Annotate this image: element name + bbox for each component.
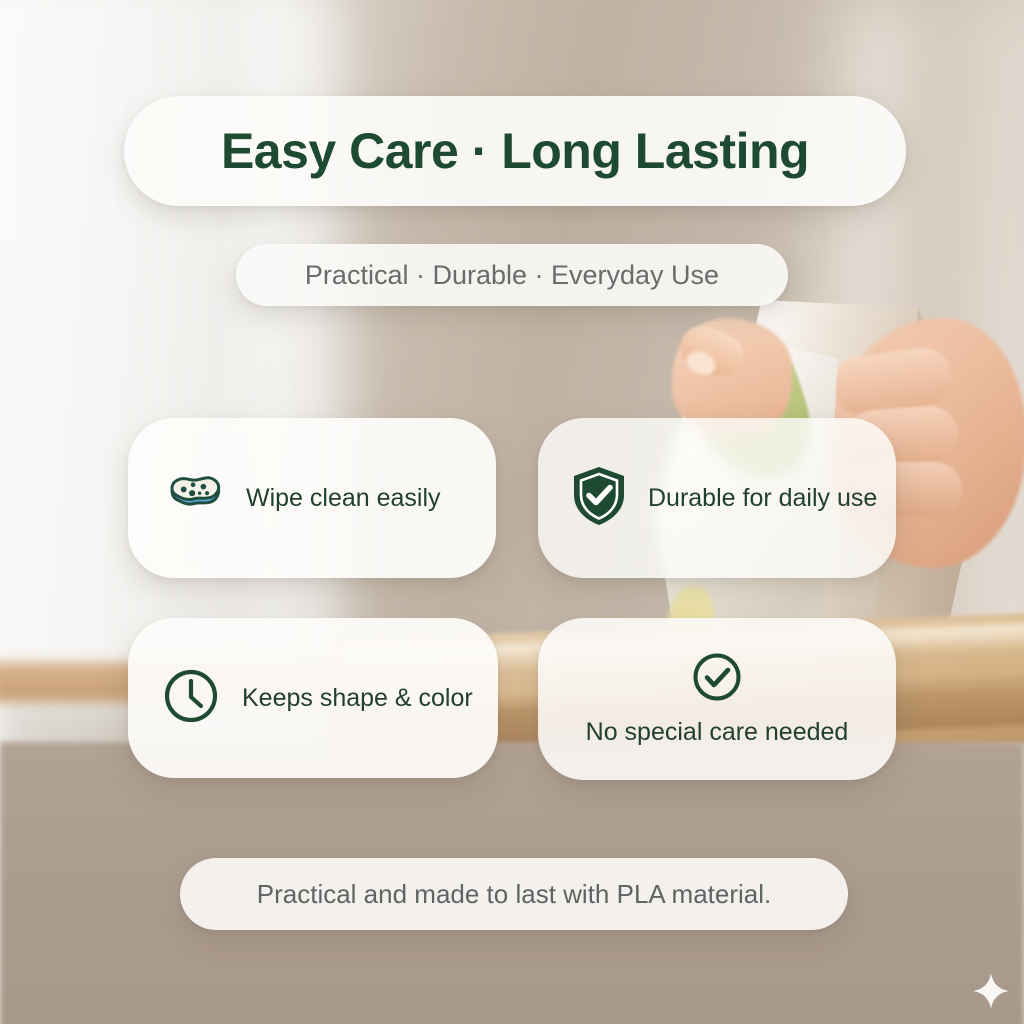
sparkle-icon xyxy=(972,972,1010,1010)
subtitle-pill: Practical · Durable · Everyday Use xyxy=(236,244,788,306)
sponge-icon xyxy=(164,466,224,531)
circle-check-icon xyxy=(691,651,743,708)
shield-check-icon xyxy=(570,465,628,532)
feature-card-keeps-shape[interactable]: Keeps shape & color xyxy=(128,618,498,778)
feature-card-durable[interactable]: Durable for daily use xyxy=(538,418,896,578)
page-subtitle: Practical · Durable · Everyday Use xyxy=(305,260,719,291)
feature-label: No special care needed xyxy=(586,718,849,747)
infographic-canvas: Easy Care · Long Lasting Practical · Dur… xyxy=(0,0,1024,1024)
page-title: Easy Care · Long Lasting xyxy=(221,122,809,180)
feature-card-wipe-clean[interactable]: Wipe clean easily xyxy=(128,418,496,578)
clock-icon xyxy=(162,667,220,730)
feature-card-no-special-care[interactable]: No special care needed xyxy=(538,618,896,780)
feature-label: Keeps shape & color xyxy=(242,684,473,713)
footer-pill: Practical and made to last with PLA mate… xyxy=(180,858,848,930)
title-pill: Easy Care · Long Lasting xyxy=(124,96,906,206)
feature-label: Durable for daily use xyxy=(648,484,877,513)
feature-label: Wipe clean easily xyxy=(246,484,441,513)
footer-text: Practical and made to last with PLA mate… xyxy=(257,879,771,910)
